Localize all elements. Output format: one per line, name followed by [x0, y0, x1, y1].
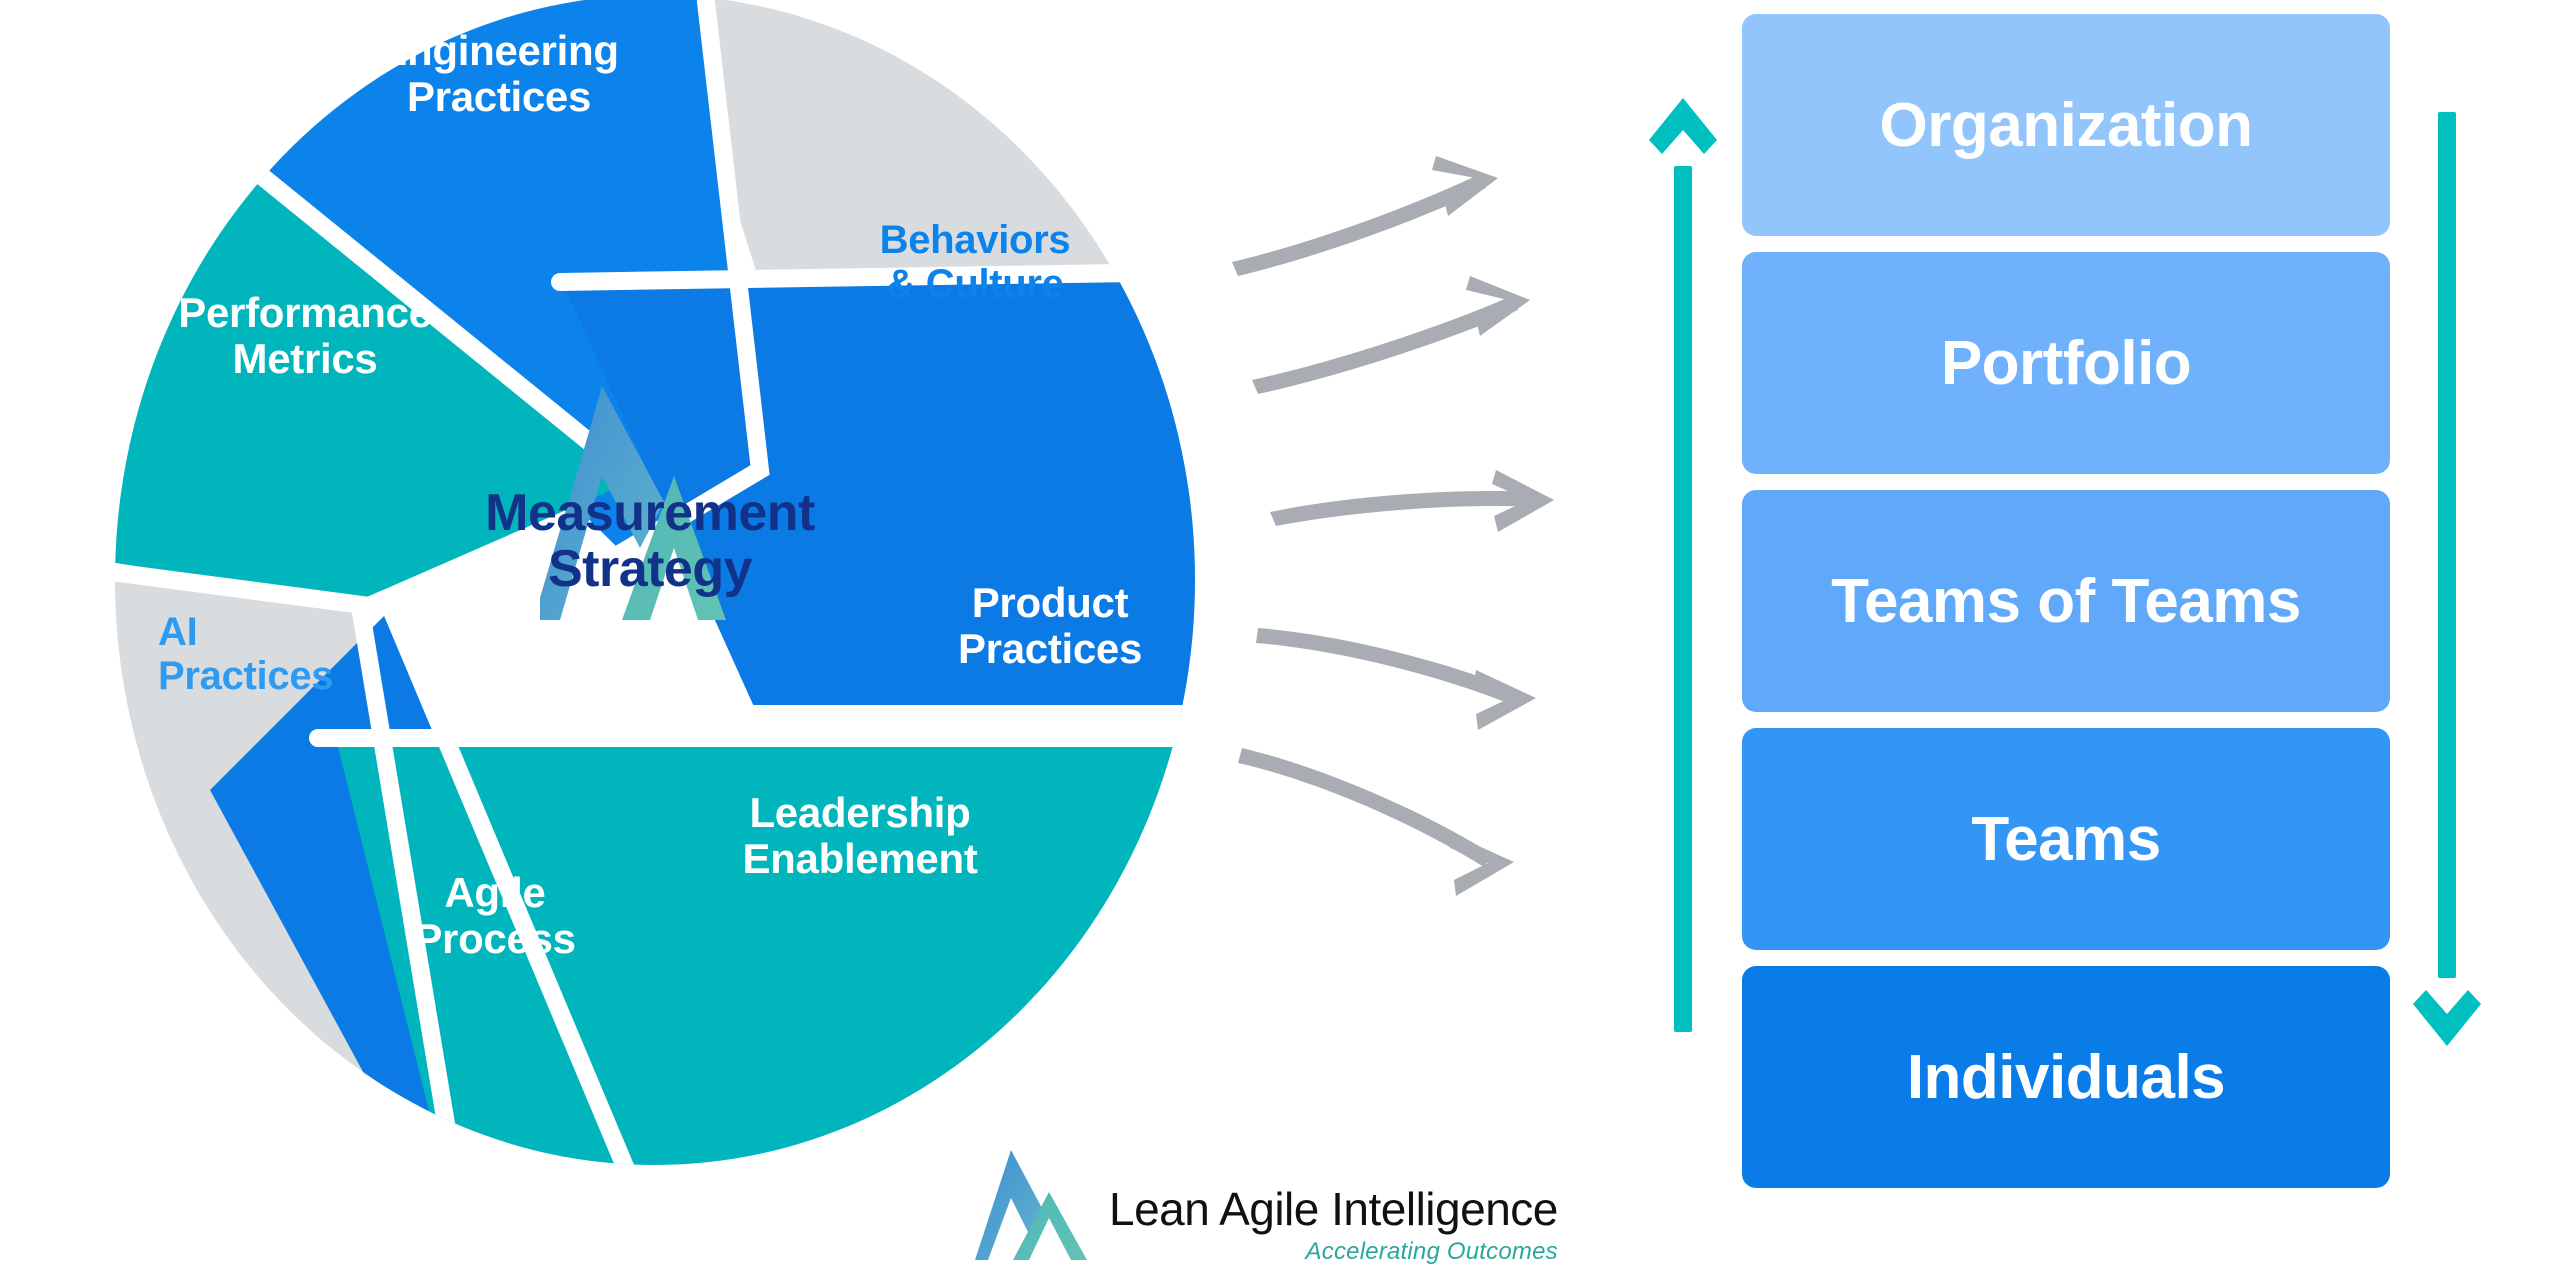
curved-arrow-right-icon-5	[1238, 748, 1514, 896]
level-label-individuals: Individuals	[1907, 1042, 2225, 1113]
level-label-organization: Organization	[1880, 90, 2253, 161]
brand-name: Lean Agile Intelligence	[1109, 1186, 1558, 1232]
arrow-down-icon	[2412, 108, 2482, 1048]
page-title: Measurement Strategy	[400, 485, 900, 597]
curved-arrow-right-icon-3	[1270, 470, 1554, 532]
level-label-teams-of-teams: Teams of Teams	[1831, 566, 2301, 637]
curved-arrow-right-icon-2	[1252, 276, 1530, 394]
level-box-teams[interactable]: Teams	[1742, 728, 2390, 950]
curved-arrow-right-icon-1	[1232, 156, 1498, 276]
level-box-individuals[interactable]: Individuals	[1742, 966, 2390, 1188]
lean-agile-intelligence-mark-icon-footer	[975, 1148, 1087, 1264]
organizational-levels-stack: Organization Portfolio Teams of Teams Te…	[1742, 14, 2390, 1188]
brand-tagline: Accelerating Outcomes	[1306, 1240, 1558, 1264]
curved-arrow-right-icon-4	[1256, 628, 1536, 730]
brand-text-block: Lean Agile Intelligence Accelerating Out…	[1109, 1186, 1558, 1264]
arrow-up-icon	[1648, 96, 1718, 1036]
level-box-organization[interactable]: Organization	[1742, 14, 2390, 236]
connector-arrow-group	[1230, 150, 1630, 950]
level-label-portfolio: Portfolio	[1941, 328, 2191, 399]
brand-logo: Lean Agile Intelligence Accelerating Out…	[975, 1148, 1558, 1264]
diagram-canvas: Engineering Practices Behaviors & Cultur…	[0, 0, 2560, 1280]
level-label-teams: Teams	[1971, 804, 2160, 875]
level-box-teams-of-teams[interactable]: Teams of Teams	[1742, 490, 2390, 712]
level-box-portfolio[interactable]: Portfolio	[1742, 252, 2390, 474]
